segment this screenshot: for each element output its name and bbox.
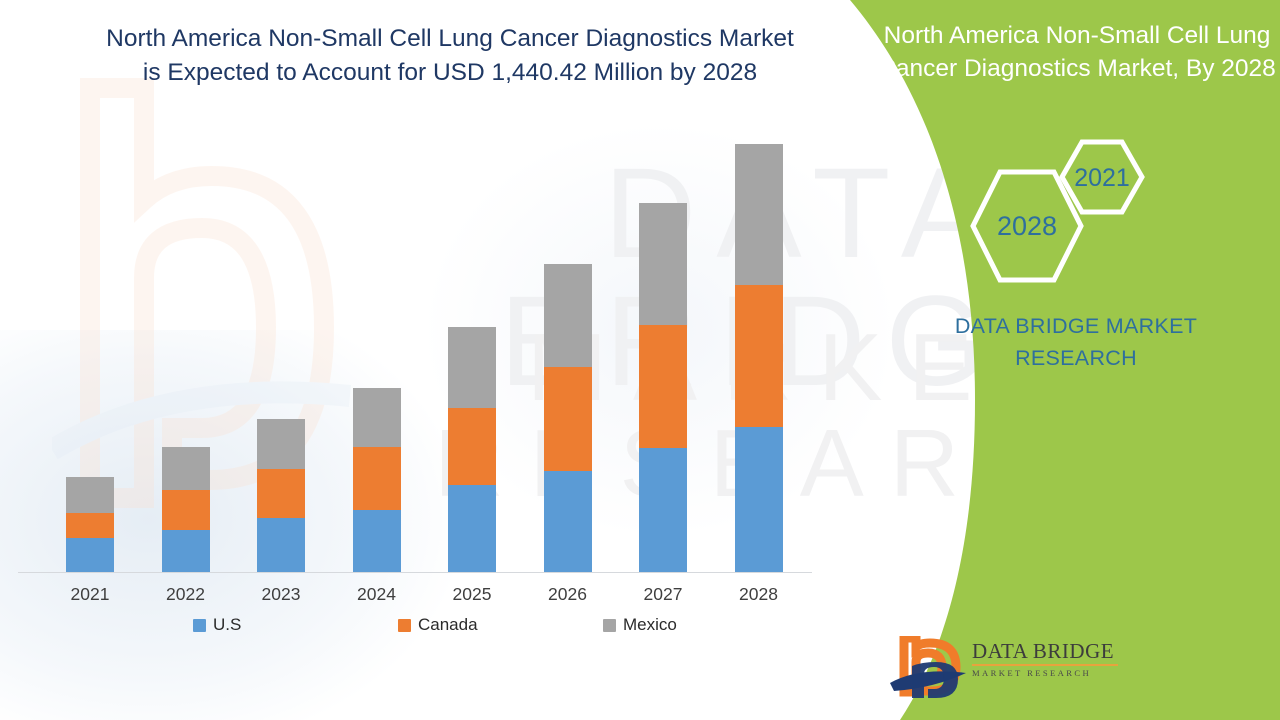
bar-segment-us-2022 <box>162 530 210 572</box>
x-axis-tick-labels: 20212022202320242025202620272028 <box>18 584 818 612</box>
bar-segment-mexico-2026 <box>544 264 592 367</box>
legend-item-us[interactable]: U.S <box>193 615 241 635</box>
bar-segment-canada-2023 <box>257 469 305 519</box>
legend-item-mexico[interactable]: Mexico <box>603 615 677 635</box>
x-tick-2023: 2023 <box>241 584 321 605</box>
hexagon-group: 2028 2021 <box>860 130 1280 300</box>
data-bridge-logo-text: DATA BRIDGE MARKET RESEARCH <box>972 640 1122 678</box>
bar-2028 <box>735 144 783 572</box>
side-panel-title-line-1: North America Non-Small Cell Lung <box>874 20 1280 53</box>
green-panel-content: North America Non-Small Cell Lung Cancer… <box>860 0 1280 720</box>
bar-2021 <box>66 477 114 572</box>
bar-segment-mexico-2025 <box>448 327 496 408</box>
x-tick-2027: 2027 <box>623 584 703 605</box>
x-tick-2028: 2028 <box>719 584 799 605</box>
x-axis-line <box>18 572 812 573</box>
legend-swatch-icon <box>603 619 616 632</box>
bar-2024 <box>353 388 401 572</box>
bar-2027 <box>639 203 687 572</box>
bar-segment-mexico-2022 <box>162 447 210 490</box>
x-tick-2024: 2024 <box>337 584 417 605</box>
x-tick-2021: 2021 <box>50 584 130 605</box>
bar-segment-canada-2026 <box>544 367 592 470</box>
bar-segment-us-2028 <box>735 427 783 572</box>
x-tick-2025: 2025 <box>432 584 512 605</box>
chart-legend: U.SCanadaMexico <box>18 615 818 645</box>
bar-2022 <box>162 447 210 572</box>
data-bridge-logo: DATA BRIDGE MARKET RESEARCH <box>888 636 1118 704</box>
x-tick-2026: 2026 <box>528 584 608 605</box>
logo-rule <box>972 664 1118 666</box>
data-bridge-mark-icon <box>888 636 968 700</box>
bar-segment-mexico-2021 <box>66 477 114 513</box>
side-panel-title-line-2: Cancer Diagnostics Market, By 2028 <box>874 53 1280 86</box>
legend-swatch-icon <box>193 619 206 632</box>
bar-2023 <box>257 419 305 572</box>
logo-name-top: DATA BRIDGE <box>972 640 1122 662</box>
infographic-canvas: DATA BRIDGE MARKET RESEARCH North Americ… <box>0 0 1280 720</box>
legend-label: Mexico <box>623 615 677 635</box>
chart-plot-area <box>18 120 818 572</box>
stacked-bar-chart: 20212022202320242025202620272028 U.SCana… <box>0 0 860 720</box>
bar-segment-us-2026 <box>544 471 592 572</box>
hexagon-2028-label: 2028 <box>997 211 1057 241</box>
bar-segment-canada-2021 <box>66 513 114 538</box>
bar-segment-canada-2024 <box>353 447 401 510</box>
brand-name-line-1: DATA BRIDGE MARKET <box>876 310 1276 342</box>
brand-name-line-2: RESEARCH <box>876 342 1276 374</box>
bar-segment-us-2027 <box>639 448 687 572</box>
x-tick-2022: 2022 <box>146 584 226 605</box>
bar-segment-mexico-2024 <box>353 388 401 447</box>
bar-segment-canada-2028 <box>735 285 783 427</box>
brand-name: DATA BRIDGE MARKET RESEARCH <box>876 310 1276 375</box>
legend-label: U.S <box>213 615 241 635</box>
side-panel-title: North America Non-Small Cell Lung Cancer… <box>874 20 1280 86</box>
bar-2025 <box>448 327 496 572</box>
bar-segment-us-2024 <box>353 510 401 572</box>
bar-segment-mexico-2027 <box>639 203 687 324</box>
bar-segment-us-2021 <box>66 538 114 572</box>
bar-segment-canada-2025 <box>448 408 496 485</box>
bar-2026 <box>544 264 592 572</box>
legend-label: Canada <box>418 615 478 635</box>
bar-segment-us-2023 <box>257 518 305 572</box>
bar-segment-canada-2022 <box>162 490 210 530</box>
bar-segment-mexico-2028 <box>735 144 783 286</box>
bar-segment-us-2025 <box>448 485 496 572</box>
legend-item-canada[interactable]: Canada <box>398 615 478 635</box>
hexagon-2021-label: 2021 <box>1074 164 1130 192</box>
bar-segment-canada-2027 <box>639 325 687 449</box>
bar-segment-mexico-2023 <box>257 419 305 469</box>
logo-name-bottom: MARKET RESEARCH <box>972 668 1122 678</box>
legend-swatch-icon <box>398 619 411 632</box>
